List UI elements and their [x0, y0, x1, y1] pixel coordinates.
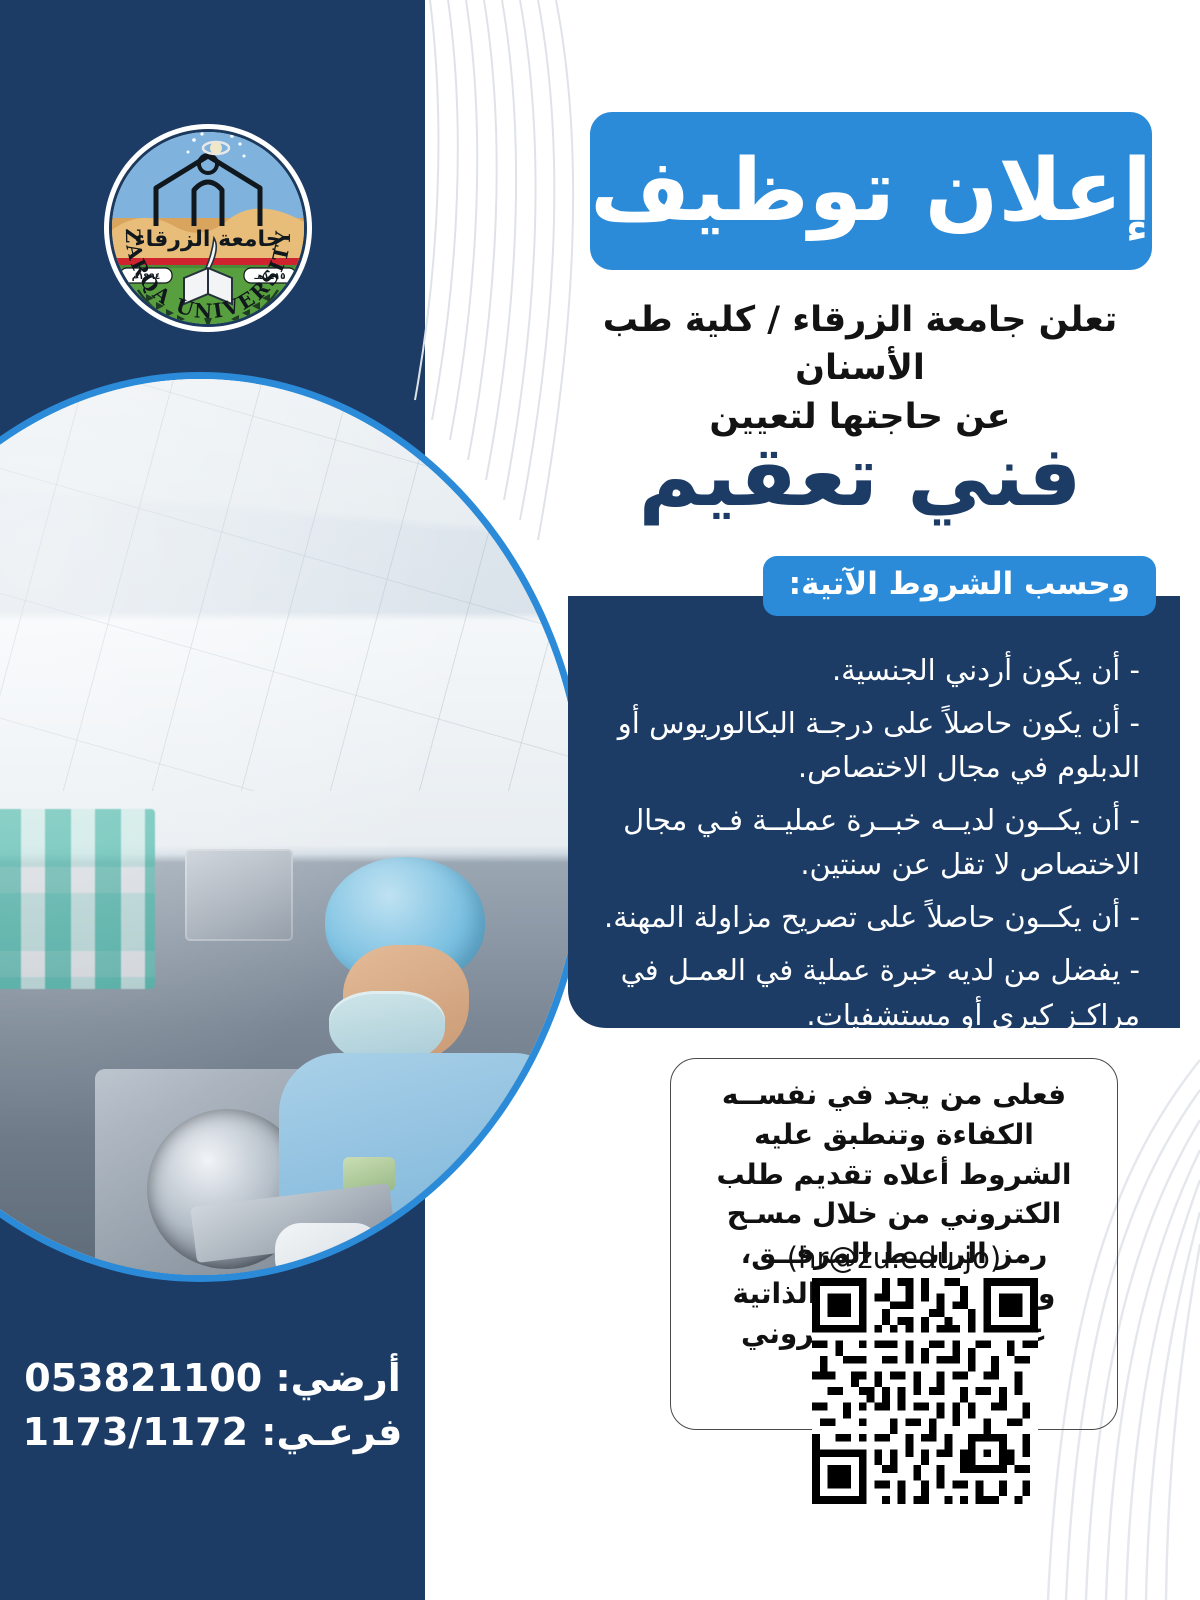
conditions-panel: وحسب الشروط الآتية: - أن يكون أردني الجن… — [568, 596, 1180, 1028]
subtitle-block: تعلن جامعة الزرقاء / كلية طب الأسنان عن … — [562, 296, 1158, 441]
content-column: إعلان توظيف تعلن جامعة الزرقاء / كلية طب… — [520, 0, 1180, 1600]
job-title: فني تعقيم — [562, 430, 1158, 522]
instrument-pouches — [0, 809, 155, 989]
hero-photo-circle — [0, 372, 590, 1282]
condition-item: - يفضل من لديه خبرة عملية في العمـل في م… — [602, 948, 1140, 1036]
gloved-hand — [275, 1223, 381, 1282]
subtitle-line-1: تعلن جامعة الزرقاء / كلية طب الأسنان — [562, 296, 1158, 393]
landline-label: أرضي: — [275, 1356, 400, 1400]
application-qr-code[interactable] — [812, 1278, 1038, 1504]
condition-item: - أن يكــون حاصلاً على تصريح مزاولة المه… — [602, 895, 1140, 939]
svg-text:جامعة الزرقاء: جامعة الزرقاء — [134, 227, 281, 252]
headline-text: إعلان توظيف — [590, 148, 1152, 234]
sterilization-room-photo — [0, 379, 583, 1275]
job-announcement-poster: جامعة الزرقاء ١٩٩٤م ١٤١٥هـ — [0, 0, 1200, 1600]
extension-number: 1173/1172 — [23, 1410, 248, 1454]
condition-item: - أن يكون حاصلاً على درجـة البكالوريوس أ… — [602, 701, 1140, 789]
condition-item: - أن يكــون لديــه خبــرة عمليــة فـي مج… — [602, 798, 1140, 886]
contact-email[interactable]: (hr@zu.edu.jo) — [701, 1241, 1087, 1275]
contact-phone-block: أرضي: 053821100 فرعـي: 1173/1172 — [0, 1352, 425, 1460]
extension-label: فرعـي: — [261, 1410, 402, 1454]
landline-number: 053821100 — [24, 1356, 262, 1400]
ceiling-grid — [0, 379, 583, 791]
zarqa-university-logo: جامعة الزرقاء ١٩٩٤م ١٤١٥هـ — [98, 118, 318, 338]
conditions-list: - أن يكون أردني الجنسية. - أن يكون حاصلا… — [602, 648, 1140, 1046]
condition-item: - أن يكون أردني الجنسية. — [602, 648, 1140, 692]
landline-row: أرضي: 053821100 — [0, 1352, 425, 1406]
conditions-badge: وحسب الشروط الآتية: — [763, 556, 1156, 616]
headline-banner: إعلان توظيف — [590, 112, 1152, 270]
extension-row: فرعـي: 1173/1172 — [0, 1406, 425, 1460]
